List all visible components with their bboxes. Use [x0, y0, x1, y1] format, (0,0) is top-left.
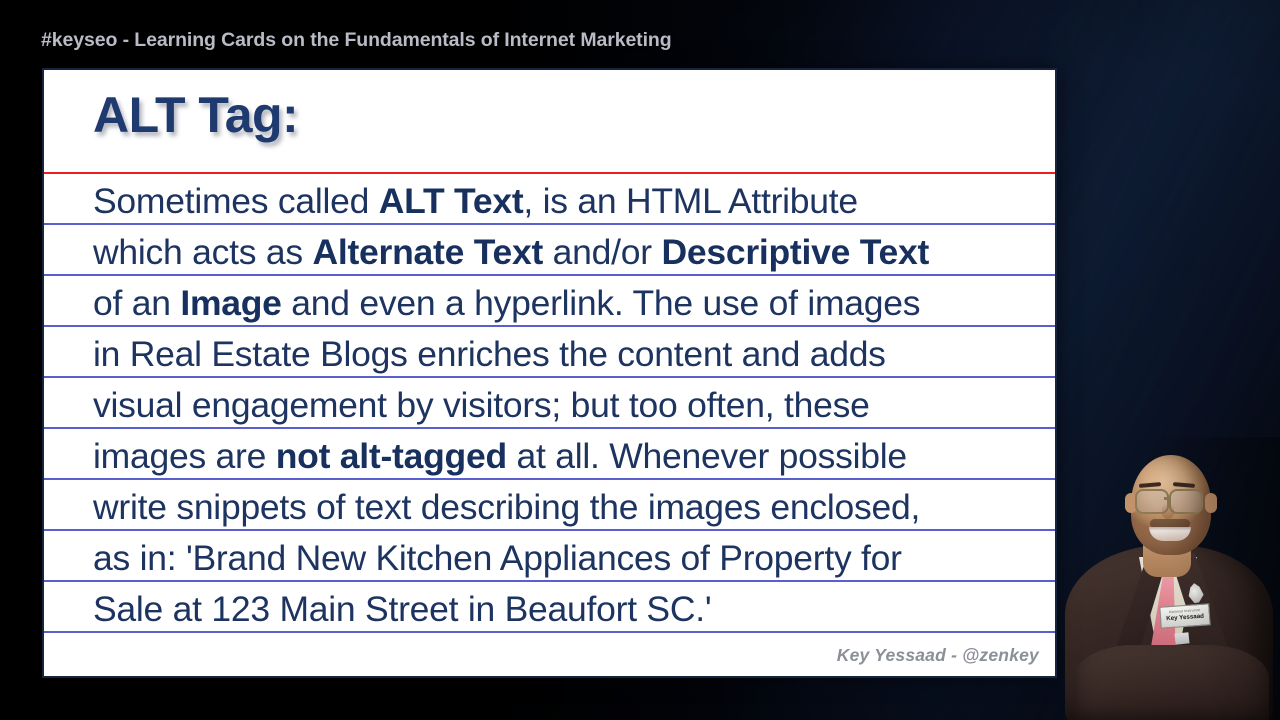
emphasis-text: Image: [180, 283, 281, 323]
emphasis-text: ALT Text: [379, 181, 524, 221]
emphasis-text: not alt-tagged: [276, 436, 507, 476]
rule-blue-1: [44, 223, 1055, 225]
slide-header-title: #keyseo - Learning Cards on the Fundamen…: [41, 29, 672, 52]
plain-text: Sometimes called: [93, 181, 379, 221]
line-7: write snippets of text describing the im…: [93, 490, 1041, 526]
rule-blue-6: [44, 478, 1055, 480]
plain-text: images are: [93, 436, 276, 476]
emphasis-text: Descriptive Text: [661, 232, 929, 272]
rule-blue-3: [44, 325, 1055, 327]
rule-blue-4: [44, 376, 1055, 378]
plain-text: visual engagement by visitors; but too o…: [93, 385, 870, 425]
rule-blue-5: [44, 427, 1055, 429]
learning-card: ALT Tag: Sometimes called ALT Text, is a…: [42, 68, 1057, 678]
plain-text: of an: [93, 283, 180, 323]
photo-shading: [1057, 437, 1280, 720]
emphasis-text: Alternate Text: [312, 232, 543, 272]
line-9: Sale at 123 Main Street in Beaufort SC.': [93, 592, 1041, 628]
presenter-photo: National Instructor Key Yessaad: [1057, 437, 1280, 720]
card-title: ALT Tag:: [93, 86, 298, 144]
plain-text: as in: 'Brand New Kitchen Appliances of …: [93, 538, 902, 578]
plain-text: Sale at 123 Main Street in Beaufort SC.': [93, 589, 711, 629]
plain-text: and even a hyperlink. The use of images: [282, 283, 921, 323]
slide-root: #keyseo - Learning Cards on the Fundamen…: [0, 0, 1280, 720]
plain-text: which acts as: [93, 232, 312, 272]
author-signature: Key Yessaad - @zenkey: [837, 645, 1039, 666]
line-6: images are not alt-tagged at all. Whenev…: [93, 439, 1041, 475]
line-2: which acts as Alternate Text and/or Desc…: [93, 235, 1041, 271]
rule-blue-8: [44, 580, 1055, 582]
line-1: Sometimes called ALT Text, is an HTML At…: [93, 184, 1041, 220]
plain-text: write snippets of text describing the im…: [93, 487, 920, 527]
rule-red: [44, 172, 1055, 174]
rule-blue-7: [44, 529, 1055, 531]
plain-text: , is an HTML Attribute: [523, 181, 858, 221]
line-3: of an Image and even a hyperlink. The us…: [93, 286, 1041, 322]
line-4: in Real Estate Blogs enriches the conten…: [93, 337, 1041, 373]
line-8: as in: 'Brand New Kitchen Appliances of …: [93, 541, 1041, 577]
rule-blue-9: [44, 631, 1055, 633]
plain-text: in Real Estate Blogs enriches the conten…: [93, 334, 886, 374]
line-5: visual engagement by visitors; but too o…: [93, 388, 1041, 424]
plain-text: and/or: [543, 232, 661, 272]
plain-text: at all. Whenever possible: [507, 436, 907, 476]
rule-blue-2: [44, 274, 1055, 276]
